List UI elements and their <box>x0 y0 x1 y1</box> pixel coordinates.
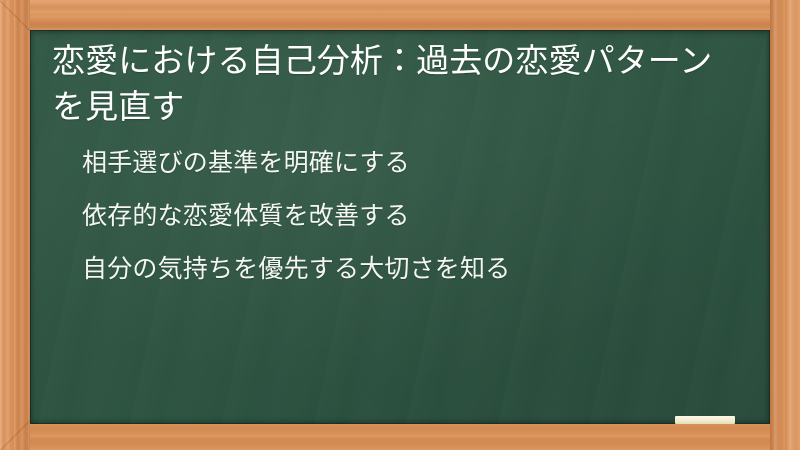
chalkboard-surface: 恋愛における自己分析：過去の恋愛パターンを見直す 相手選びの基準を明確にする 依… <box>30 30 770 424</box>
frame-rail-bottom <box>0 424 800 450</box>
bullet-item-3: 自分の気持ちを優先する大切さを知る <box>82 257 748 282</box>
chalk-stick <box>675 416 735 424</box>
frame-stile-left <box>0 0 30 450</box>
frame-rail-top <box>0 0 800 30</box>
frame-stile-right <box>770 0 800 450</box>
bullet-list: 相手選びの基準を明確にする 依存的な恋愛体質を改善する 自分の気持ちを優先する大… <box>52 151 748 282</box>
bullet-item-2: 依存的な恋愛体質を改善する <box>82 204 748 229</box>
slide-title: 恋愛における自己分析：過去の恋愛パターンを見直す <box>52 38 732 129</box>
slide-content: 恋愛における自己分析：過去の恋愛パターンを見直す 相手選びの基準を明確にする 依… <box>30 30 770 282</box>
chalkboard-slide: 恋愛における自己分析：過去の恋愛パターンを見直す 相手選びの基準を明確にする 依… <box>0 0 800 450</box>
bullet-item-1: 相手選びの基準を明確にする <box>82 151 748 176</box>
